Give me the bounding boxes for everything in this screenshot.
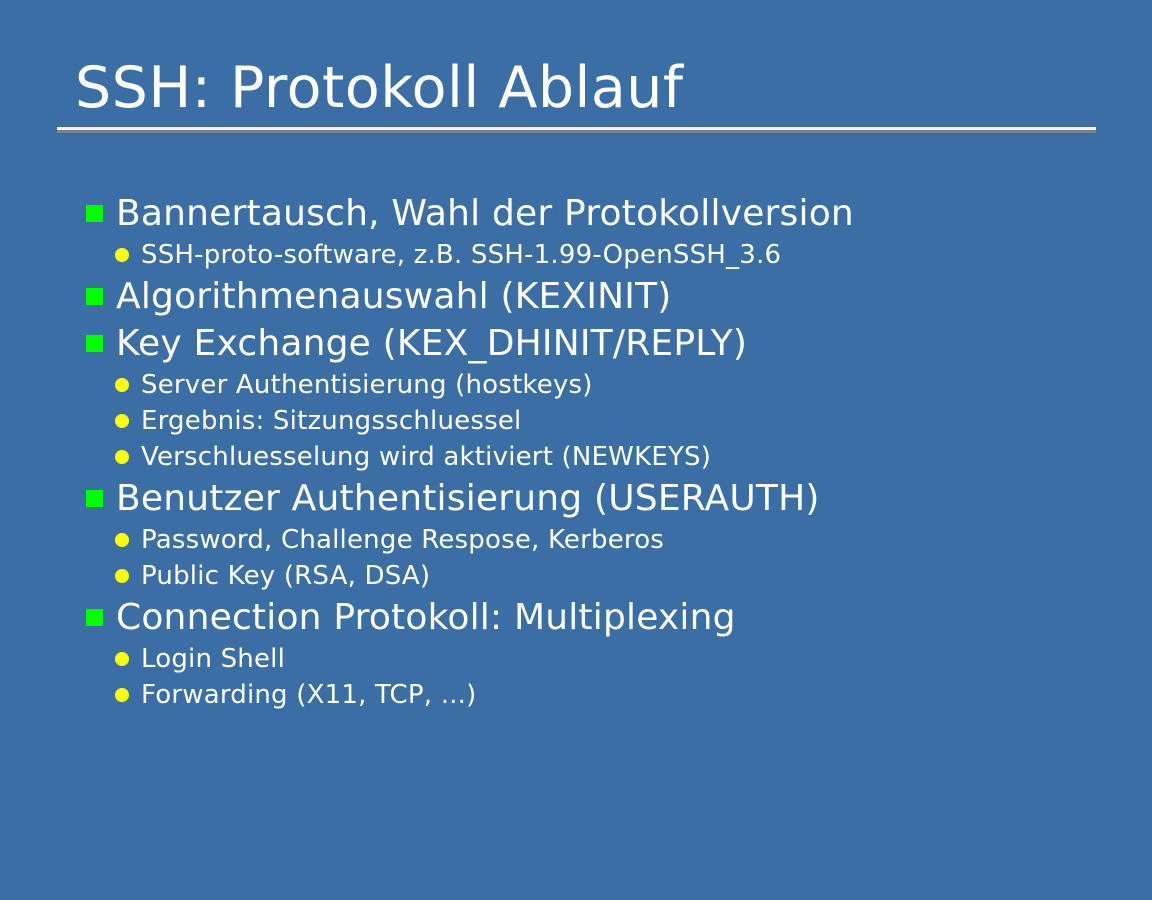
presentation-slide: SSH: Protokoll Ablauf Bannertausch, Wahl… [0,0,1152,900]
circle-bullet-icon [115,688,129,702]
list-item: Server Authentisierung (hostkeys) [86,367,1126,403]
list-item-label: SSH-proto-software, z.B. SSH-1.99-OpenSS… [141,237,781,273]
list-item-label: Server Authentisierung (hostkeys) [141,367,593,403]
slide-title-block: SSH: Protokoll Ablauf [57,55,1096,121]
list-item-label: Password, Challenge Respose, Kerberos [141,522,664,558]
circle-bullet-icon [115,378,129,392]
slide-body-list: Bannertausch, Wahl der Protokollversion … [86,190,1126,713]
list-item-label: Ergebnis: Sitzungsschluessel [141,403,521,439]
circle-bullet-icon [115,569,129,583]
bullet-group: Key Exchange (KEX_DHINIT/REPLY) Server A… [86,320,1126,475]
circle-bullet-icon [115,652,129,666]
list-item: Login Shell [86,641,1126,677]
bullet-group: Connection Protokoll: Multiplexing Login… [86,594,1126,713]
list-item: Password, Challenge Respose, Kerberos [86,522,1126,558]
bullet-group: Algorithmenauswahl (KEXINIT) [86,273,1126,320]
list-item: Benutzer Authentisierung (USERAUTH) [86,475,1126,522]
square-bullet-icon [86,205,103,222]
list-item: SSH-proto-software, z.B. SSH-1.99-OpenSS… [86,237,1126,273]
circle-bullet-icon [115,248,129,262]
list-item-label: Algorithmenauswahl (KEXINIT) [116,273,672,320]
title-divider-shadow [57,130,1096,133]
list-item: Verschluesselung wird aktiviert (NEWKEYS… [86,439,1126,475]
list-item: Public Key (RSA, DSA) [86,558,1126,594]
list-item: Forwarding (X11, TCP, ...) [86,677,1126,713]
list-item-label: Benutzer Authentisierung (USERAUTH) [116,475,820,522]
list-item-label: Verschluesselung wird aktiviert (NEWKEYS… [141,439,711,475]
bullet-group: Benutzer Authentisierung (USERAUTH) Pass… [86,475,1126,594]
circle-bullet-icon [115,450,129,464]
circle-bullet-icon [115,533,129,547]
list-item-label: Key Exchange (KEX_DHINIT/REPLY) [116,320,747,367]
square-bullet-icon [86,335,103,352]
title-divider [57,127,1096,133]
list-item-label: Bannertausch, Wahl der Protokollversion [116,190,854,237]
circle-bullet-icon [115,414,129,428]
list-item-label: Connection Protokoll: Multiplexing [116,594,736,641]
list-item-label: Public Key (RSA, DSA) [141,558,430,594]
square-bullet-icon [86,609,103,626]
bullet-group: Bannertausch, Wahl der Protokollversion … [86,190,1126,273]
list-item-label: Login Shell [141,641,285,677]
list-item: Key Exchange (KEX_DHINIT/REPLY) [86,320,1126,367]
list-item-label: Forwarding (X11, TCP, ...) [141,677,476,713]
list-item: Connection Protokoll: Multiplexing [86,594,1126,641]
square-bullet-icon [86,288,103,305]
list-item: Ergebnis: Sitzungsschluessel [86,403,1126,439]
list-item: Bannertausch, Wahl der Protokollversion [86,190,1126,237]
square-bullet-icon [86,490,103,507]
page-title: SSH: Protokoll Ablauf [57,55,1096,121]
list-item: Algorithmenauswahl (KEXINIT) [86,273,1126,320]
